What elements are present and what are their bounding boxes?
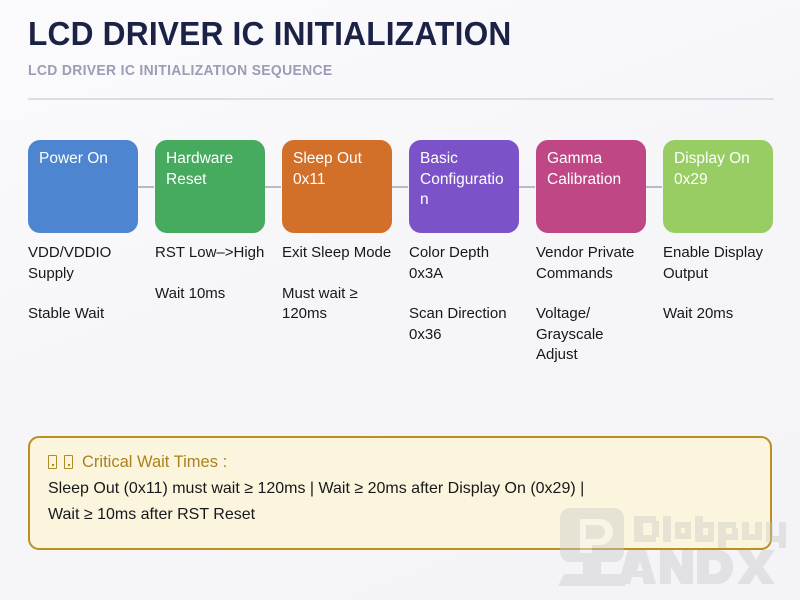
step-detail-primary: Color Depth 0x3A	[409, 243, 521, 284]
page-subtitle: LCD DRIVER IC INITIALIZATION SEQUENCE	[28, 63, 742, 79]
flow-connector	[138, 186, 154, 188]
header-divider	[28, 98, 774, 100]
flow-node-basic-configuration[interactable]: Basic Configuration	[409, 140, 519, 233]
step-detail-secondary: Must wait ≥ 120ms	[282, 284, 394, 325]
callout-line-1: Sleep Out (0x11) must wait ≥ 120ms | Wai…	[48, 476, 752, 502]
step-detail-primary: RST Low–>High	[155, 243, 267, 264]
flow-connector	[519, 186, 535, 188]
flow-connector	[392, 186, 408, 188]
page-header: LCD DRIVER IC INITIALIZATION LCD DRIVER …	[28, 14, 772, 79]
critical-wait-times-callout: Critical Wait Times : Sleep Out (0x11) m…	[28, 436, 772, 550]
step-description-column: RST Low–>High Wait 10ms	[155, 243, 267, 304]
initialization-flow: Power On Hardware Reset Sleep Out 0x11 B…	[28, 140, 774, 236]
step-detail-secondary: Scan Direction 0x36	[409, 304, 521, 345]
step-description-column: Vendor Private Commands Voltage/ Graysca…	[536, 243, 648, 366]
step-detail-primary: Vendor Private Commands	[536, 243, 648, 284]
flow-connector	[646, 186, 662, 188]
flow-node-sleep-out[interactable]: Sleep Out 0x11	[282, 140, 392, 233]
step-description-column: Color Depth 0x3A Scan Direction 0x36	[409, 243, 521, 345]
step-detail-primary: Exit Sleep Mode	[282, 243, 394, 264]
callout-line-2: Wait ≥ 10ms after RST Reset	[48, 502, 752, 528]
step-detail-secondary: Voltage/ Grayscale Adjust	[536, 304, 648, 366]
step-detail-secondary: Stable Wait	[28, 304, 140, 325]
flow-node-display-on[interactable]: Display On 0x29	[663, 140, 773, 233]
step-detail-secondary: Wait 20ms	[663, 304, 775, 325]
missing-glyph-icon	[64, 455, 73, 469]
step-description-column: Exit Sleep Mode Must wait ≥ 120ms	[282, 243, 394, 325]
flow-connector	[265, 186, 281, 188]
flow-node-gamma-calibration[interactable]: Gamma Calibration	[536, 140, 646, 233]
step-description-column: VDD/VDDIO Supply Stable Wait	[28, 243, 140, 325]
step-detail-secondary: Wait 10ms	[155, 284, 267, 305]
page-title: LCD DRIVER IC INITIALIZATION	[28, 14, 742, 54]
step-detail-primary: VDD/VDDIO Supply	[28, 243, 140, 284]
missing-glyph-icon	[48, 455, 57, 469]
slide-canvas: LCD DRIVER IC INITIALIZATION LCD DRIVER …	[0, 0, 800, 600]
step-detail-primary: Enable Display Output	[663, 243, 775, 284]
callout-heading-text: Critical Wait Times :	[82, 451, 227, 473]
callout-heading: Critical Wait Times :	[48, 451, 752, 473]
flow-node-hardware-reset[interactable]: Hardware Reset	[155, 140, 265, 233]
step-description-column: Enable Display Output Wait 20ms	[663, 243, 775, 325]
flow-node-power-on[interactable]: Power On	[28, 140, 138, 233]
